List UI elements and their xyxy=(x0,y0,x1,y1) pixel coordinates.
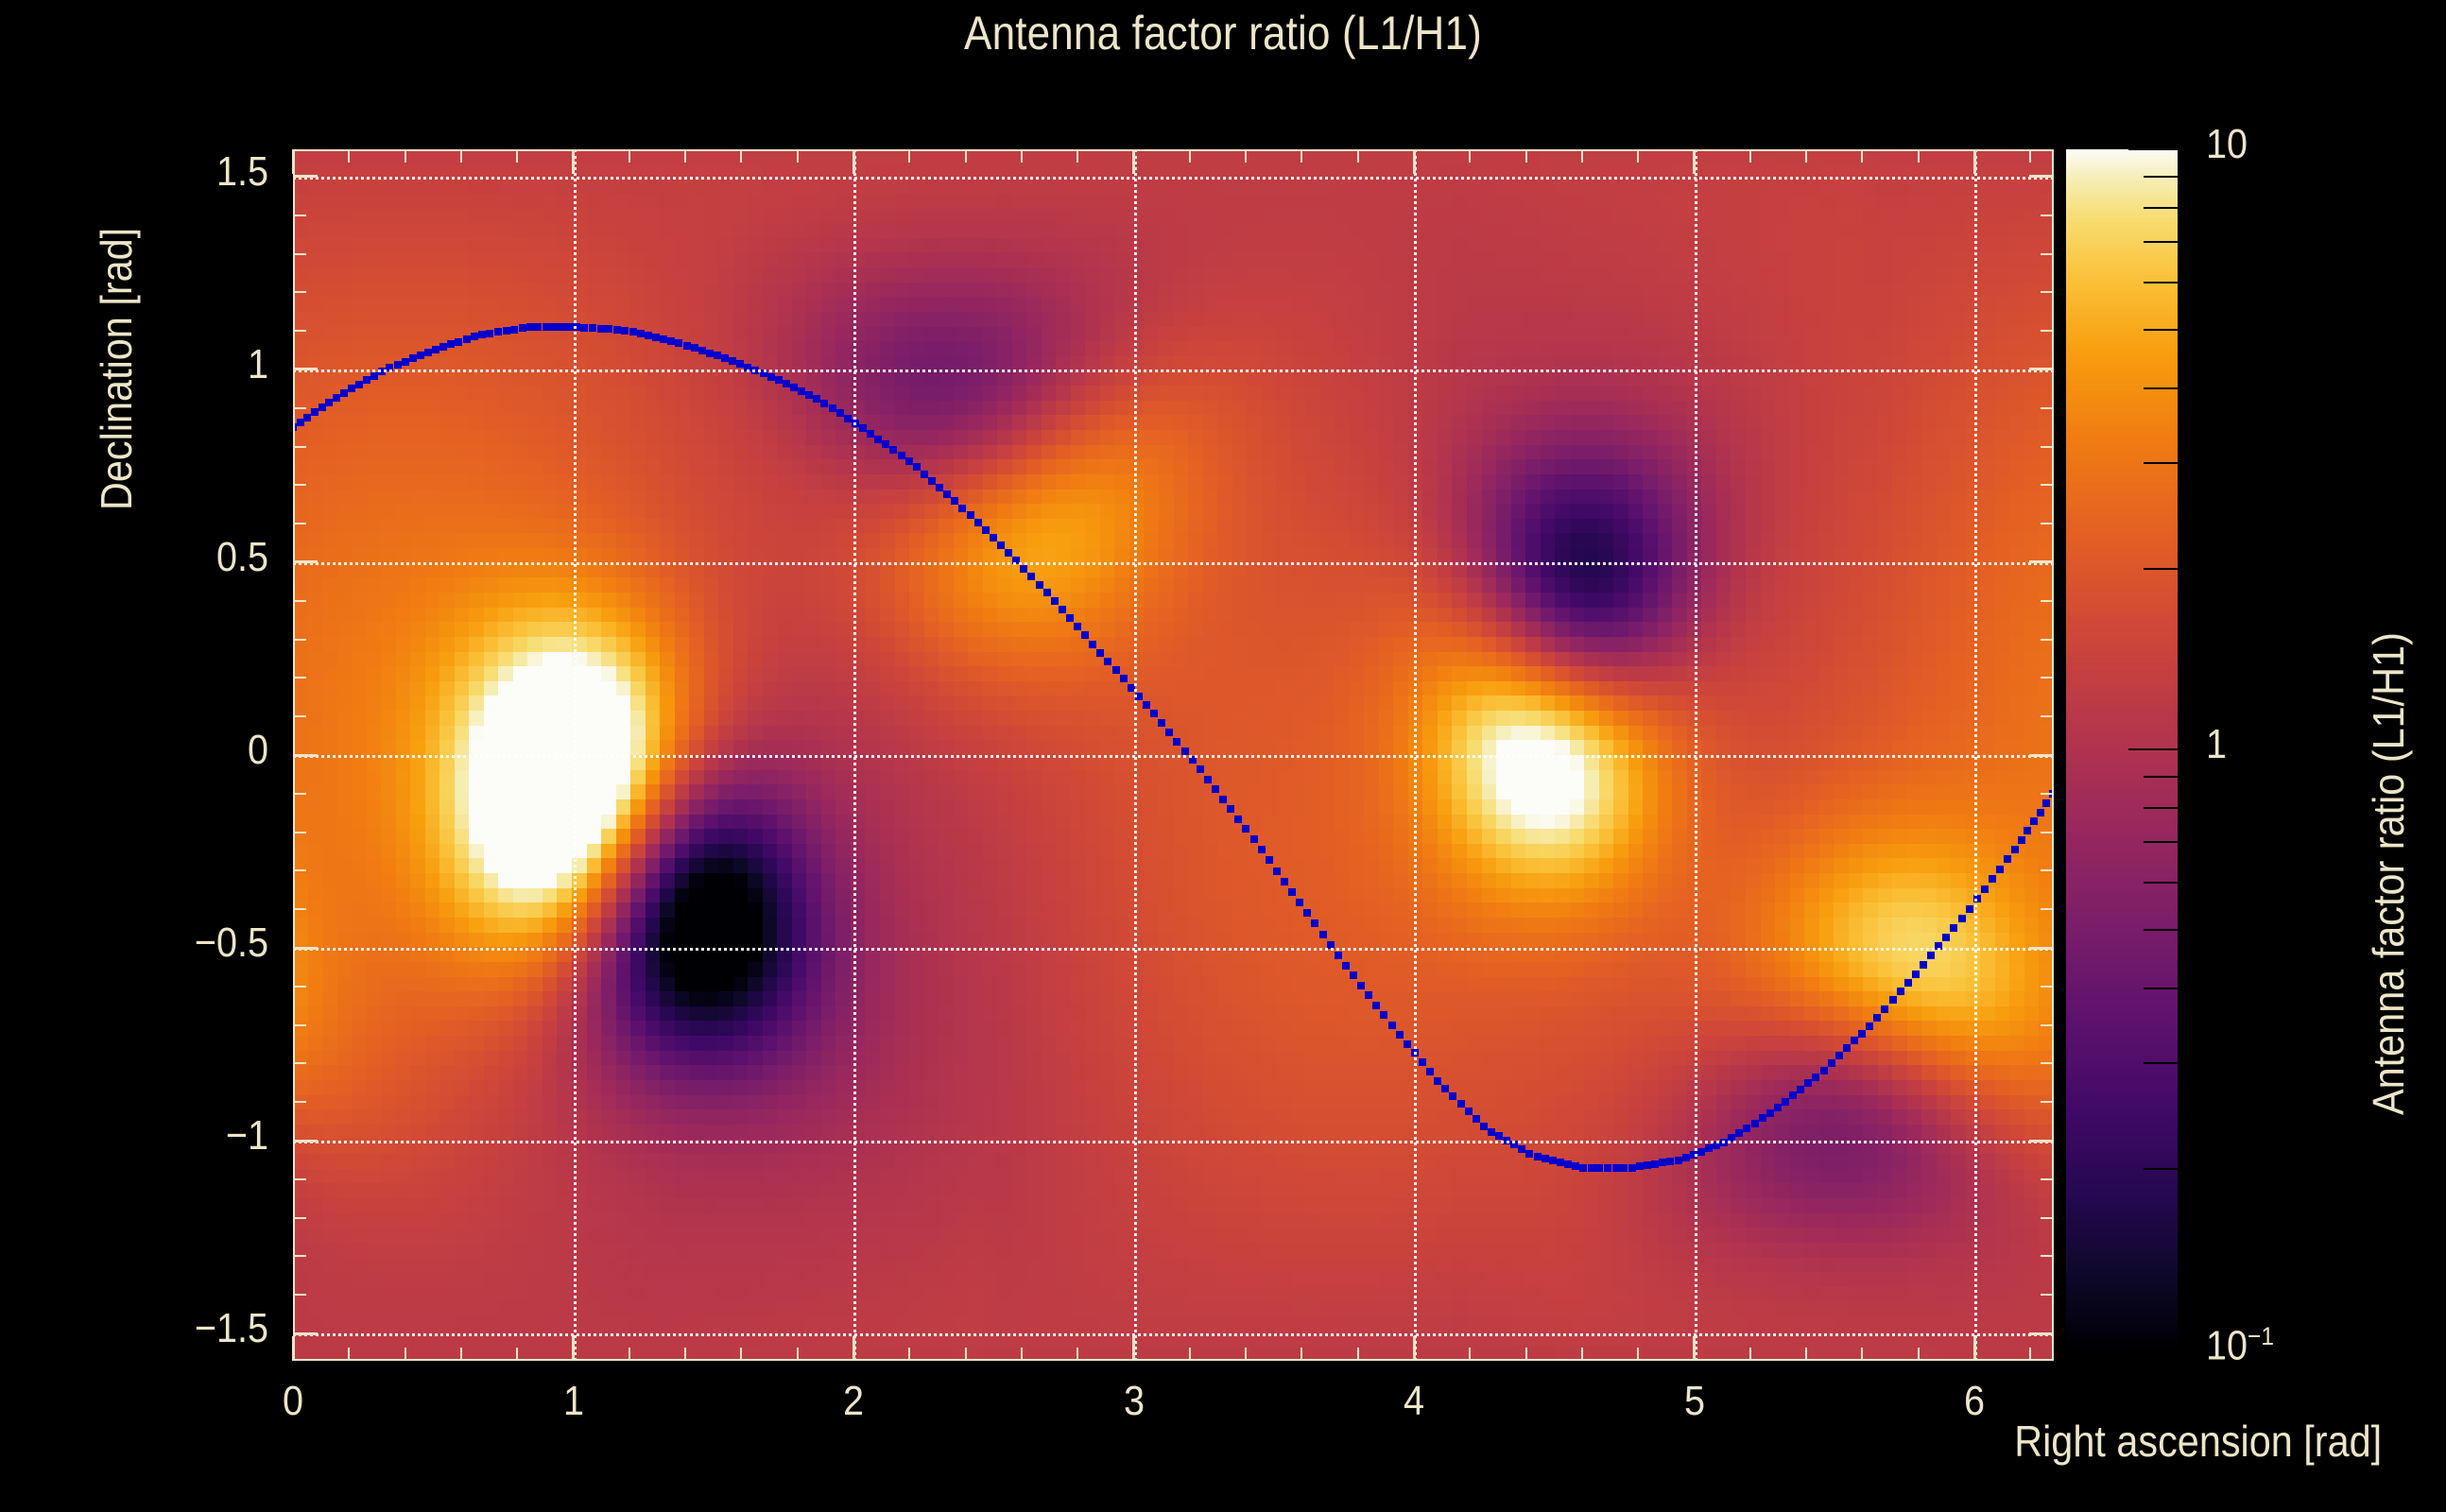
x-axis-minor-tick-top xyxy=(1301,149,1302,163)
x-axis-minor-tick-top xyxy=(1469,149,1471,163)
y-axis-minor-tick xyxy=(293,677,306,679)
colorbar-minor-tick xyxy=(2144,807,2178,809)
x-axis-major-tick xyxy=(1693,1336,1696,1361)
x-axis-major-tick xyxy=(1132,1336,1135,1361)
y-axis-major-tick xyxy=(293,947,318,950)
x-axis-minor-tick-top xyxy=(516,149,518,163)
colorbar-title: Antenna factor ratio (L1/H1) xyxy=(2363,632,2414,1115)
y-axis-major-tick-right xyxy=(2029,1140,2054,1143)
y-axis-minor-tick-right xyxy=(2041,793,2054,795)
x-axis-major-tick xyxy=(853,1336,855,1361)
x-axis-minor-tick xyxy=(740,1348,742,1361)
y-axis-major-tick xyxy=(293,1332,318,1335)
x-axis-minor-tick-top xyxy=(1637,149,1639,163)
y-axis-minor-tick-right xyxy=(2041,1178,2054,1180)
y-axis-minor-tick xyxy=(293,869,306,871)
x-axis-minor-tick-top xyxy=(965,149,967,163)
y-axis-minor-tick-right xyxy=(2041,677,2054,679)
x-axis-minor-tick xyxy=(1357,1348,1359,1361)
x-axis-minor-tick-top xyxy=(1918,149,1920,163)
x-axis-minor-tick xyxy=(1469,1348,1471,1361)
x-axis-major-tick-top xyxy=(292,149,295,174)
y-axis-minor-tick-right xyxy=(2041,523,2054,524)
x-axis-minor-tick-top xyxy=(684,149,686,163)
y-axis-minor-tick xyxy=(293,446,306,448)
x-axis-major-tick-top xyxy=(1973,149,1976,174)
colorbar-minor-tick xyxy=(2144,207,2178,209)
x-axis-minor-tick-top xyxy=(1525,149,1527,163)
x-axis-minor-tick xyxy=(348,1348,350,1361)
x-axis-minor-tick xyxy=(405,1348,406,1361)
y-axis-minor-tick-right xyxy=(2041,330,2054,332)
x-axis-minor-tick xyxy=(965,1348,967,1361)
y-axis-minor-tick-right xyxy=(2041,1255,2054,1257)
y-axis-major-tick-right xyxy=(2029,368,2054,370)
x-axis-major-tick-top xyxy=(572,149,575,174)
y-axis-major-tick xyxy=(293,754,318,757)
colorbar-minor-tick xyxy=(2144,241,2178,243)
y-axis-minor-tick xyxy=(293,1294,306,1296)
y-axis-minor-tick-right xyxy=(2041,715,2054,717)
x-axis-minor-tick xyxy=(1077,1348,1078,1361)
x-axis-minor-tick-top xyxy=(1021,149,1023,163)
y-axis-minor-tick-right xyxy=(2041,1062,2054,1064)
x-axis-minor-tick xyxy=(1581,1348,1583,1361)
x-axis-minor-tick xyxy=(516,1348,518,1361)
colorbar-minor-tick xyxy=(2144,387,2178,389)
y-axis-major-tick xyxy=(293,175,318,178)
colorbar-minor-tick xyxy=(2144,841,2178,843)
y-axis-minor-tick xyxy=(293,291,306,293)
x-axis-title: Right ascension [rad] xyxy=(2014,1416,2382,1467)
x-axis-major-tick xyxy=(572,1336,575,1361)
colorbar-minor-tick xyxy=(2144,776,2178,778)
y-axis-minor-tick xyxy=(293,1024,306,1026)
plot-canvas: Antenna factor ratio (L1/H1) 0123456−1.5… xyxy=(0,0,2446,1512)
x-axis-minor-tick xyxy=(1637,1348,1639,1361)
y-axis-minor-tick-right xyxy=(2041,1024,2054,1026)
x-axis-minor-tick xyxy=(1245,1348,1247,1361)
x-axis-minor-tick-top xyxy=(1749,149,1751,163)
y-axis-minor-tick-right xyxy=(2041,407,2054,409)
x-axis-minor-tick-top xyxy=(2029,149,2031,163)
y-axis-minor-tick-right xyxy=(2041,1101,2054,1103)
x-axis-minor-tick-top xyxy=(460,149,462,163)
y-axis-tick-label: −0.5 xyxy=(103,919,268,967)
colorbar-minor-tick xyxy=(2144,462,2178,464)
y-axis-minor-tick xyxy=(293,253,306,255)
y-axis-minor-tick xyxy=(293,407,306,409)
heatmap-image xyxy=(293,149,2054,1361)
colorbar-minor-tick xyxy=(2144,1168,2178,1170)
colorbar-minor-tick xyxy=(2144,929,2178,931)
colorbar-tick-label: 10−1 xyxy=(2206,1321,2274,1370)
y-axis-minor-tick-right xyxy=(2041,446,2054,448)
y-axis-tick-label: 0 xyxy=(103,727,268,774)
y-axis-minor-tick-right xyxy=(2041,600,2054,602)
x-axis-minor-tick-top xyxy=(1245,149,1247,163)
x-axis-minor-tick-top xyxy=(1077,149,1078,163)
colorbar-minor-tick xyxy=(2144,988,2178,989)
y-axis-minor-tick xyxy=(293,1062,306,1064)
x-axis-minor-tick xyxy=(908,1348,910,1361)
x-axis-minor-tick xyxy=(1918,1348,1920,1361)
x-axis-tick-label: 5 xyxy=(1644,1378,1746,1425)
x-axis-minor-tick xyxy=(684,1348,686,1361)
x-axis-tick-label: 6 xyxy=(1923,1378,2025,1425)
x-axis-tick-label: 4 xyxy=(1363,1378,1465,1425)
x-axis-minor-tick-top xyxy=(1357,149,1359,163)
colorbar-tick-label: 1 xyxy=(2206,721,2227,768)
y-axis-tick-label: −1.5 xyxy=(103,1305,268,1352)
colorbar-major-tick xyxy=(2128,148,2178,150)
y-axis-minor-tick xyxy=(293,832,306,833)
y-axis-minor-tick-right xyxy=(2041,215,2054,216)
x-axis-major-tick xyxy=(292,1336,295,1361)
colorbar-minor-tick xyxy=(2144,329,2178,331)
y-axis-minor-tick xyxy=(293,523,306,524)
y-axis-major-tick-right xyxy=(2029,1332,2054,1335)
y-axis-major-tick-right xyxy=(2029,175,2054,178)
colorbar-tick-label: 10 xyxy=(2206,121,2248,168)
y-axis-minor-tick-right xyxy=(2041,832,2054,833)
colorbar-minor-tick xyxy=(2144,882,2178,884)
colorbar-major-tick xyxy=(2128,748,2178,750)
x-axis-major-tick-top xyxy=(1413,149,1416,174)
y-axis-tick-label: 0.5 xyxy=(103,534,268,581)
colorbar-minor-tick xyxy=(2144,1062,2178,1064)
y-axis-minor-tick-right xyxy=(2041,1217,2054,1219)
y-axis-major-tick-right xyxy=(2029,947,2054,950)
x-axis-major-tick-top xyxy=(1132,149,1135,174)
colorbar-minor-tick xyxy=(2144,282,2178,283)
x-axis-tick-label: 3 xyxy=(1083,1378,1185,1425)
x-axis-major-tick xyxy=(1413,1336,1416,1361)
x-axis-minor-tick xyxy=(1189,1348,1191,1361)
x-axis-minor-tick xyxy=(1805,1348,1807,1361)
x-axis-minor-tick-top xyxy=(1189,149,1191,163)
colorbar-minor-tick xyxy=(2144,176,2178,178)
y-axis-minor-tick xyxy=(293,793,306,795)
x-axis-tick-label: 2 xyxy=(802,1378,904,1425)
y-axis-tick-label: −1 xyxy=(103,1112,268,1160)
y-axis-major-tick xyxy=(293,1140,318,1143)
x-axis-minor-tick-top xyxy=(348,149,350,163)
x-axis-tick-label: 1 xyxy=(523,1378,625,1425)
y-axis-major-tick-right xyxy=(2029,560,2054,563)
x-axis-minor-tick xyxy=(1861,1348,1863,1361)
x-axis-major-tick-top xyxy=(853,149,855,174)
y-axis-minor-tick-right xyxy=(2041,639,2054,641)
y-axis-minor-tick xyxy=(293,600,306,602)
heatmap-plot-area[interactable] xyxy=(293,149,2054,1361)
x-axis-minor-tick-top xyxy=(797,149,799,163)
y-axis-minor-tick xyxy=(293,715,306,717)
y-axis-minor-tick-right xyxy=(2041,291,2054,293)
y-axis-minor-tick xyxy=(293,639,306,641)
y-axis-minor-tick xyxy=(293,215,306,216)
y-axis-minor-tick-right xyxy=(2041,484,2054,486)
y-axis-minor-tick xyxy=(293,1217,306,1219)
y-axis-minor-tick xyxy=(293,1255,306,1257)
x-axis-minor-tick xyxy=(1749,1348,1751,1361)
colorbar-major-tick xyxy=(2128,1349,2178,1350)
y-axis-minor-tick xyxy=(293,484,306,486)
y-axis-minor-tick xyxy=(293,908,306,910)
y-axis-minor-tick xyxy=(293,1101,306,1103)
y-axis-minor-tick xyxy=(293,1178,306,1180)
y-axis-minor-tick-right xyxy=(2041,1294,2054,1296)
y-axis-major-tick-right xyxy=(2029,754,2054,757)
y-axis-minor-tick-right xyxy=(2041,986,2054,988)
x-axis-minor-tick-top xyxy=(908,149,910,163)
x-axis-minor-tick-top xyxy=(1581,149,1583,163)
y-axis-minor-tick-right xyxy=(2041,253,2054,255)
y-axis-major-tick xyxy=(293,368,318,370)
y-axis-major-tick xyxy=(293,560,318,563)
y-axis-minor-tick-right xyxy=(2041,869,2054,871)
x-axis-minor-tick-top xyxy=(740,149,742,163)
x-axis-major-tick xyxy=(1973,1336,1976,1361)
y-axis-minor-tick-right xyxy=(2041,908,2054,910)
x-axis-minor-tick xyxy=(797,1348,799,1361)
x-axis-minor-tick xyxy=(629,1348,630,1361)
y-axis-title: Declination [rad] xyxy=(91,228,142,510)
x-axis-tick-label: 0 xyxy=(242,1378,344,1425)
x-axis-minor-tick-top xyxy=(1861,149,1863,163)
x-axis-minor-tick-top xyxy=(405,149,406,163)
x-axis-minor-tick-top xyxy=(1805,149,1807,163)
x-axis-minor-tick xyxy=(2029,1348,2031,1361)
y-axis-tick-label: 1.5 xyxy=(103,148,268,196)
x-axis-minor-tick xyxy=(1301,1348,1302,1361)
colorbar-minor-tick xyxy=(2144,568,2178,570)
y-axis-minor-tick xyxy=(293,330,306,332)
x-axis-minor-tick xyxy=(1525,1348,1527,1361)
x-axis-major-tick-top xyxy=(1693,149,1696,174)
x-axis-minor-tick xyxy=(1021,1348,1023,1361)
x-axis-minor-tick-top xyxy=(629,149,630,163)
y-axis-minor-tick xyxy=(293,986,306,988)
page-title: Antenna factor ratio (L1/H1) xyxy=(146,6,2299,60)
x-axis-minor-tick xyxy=(460,1348,462,1361)
